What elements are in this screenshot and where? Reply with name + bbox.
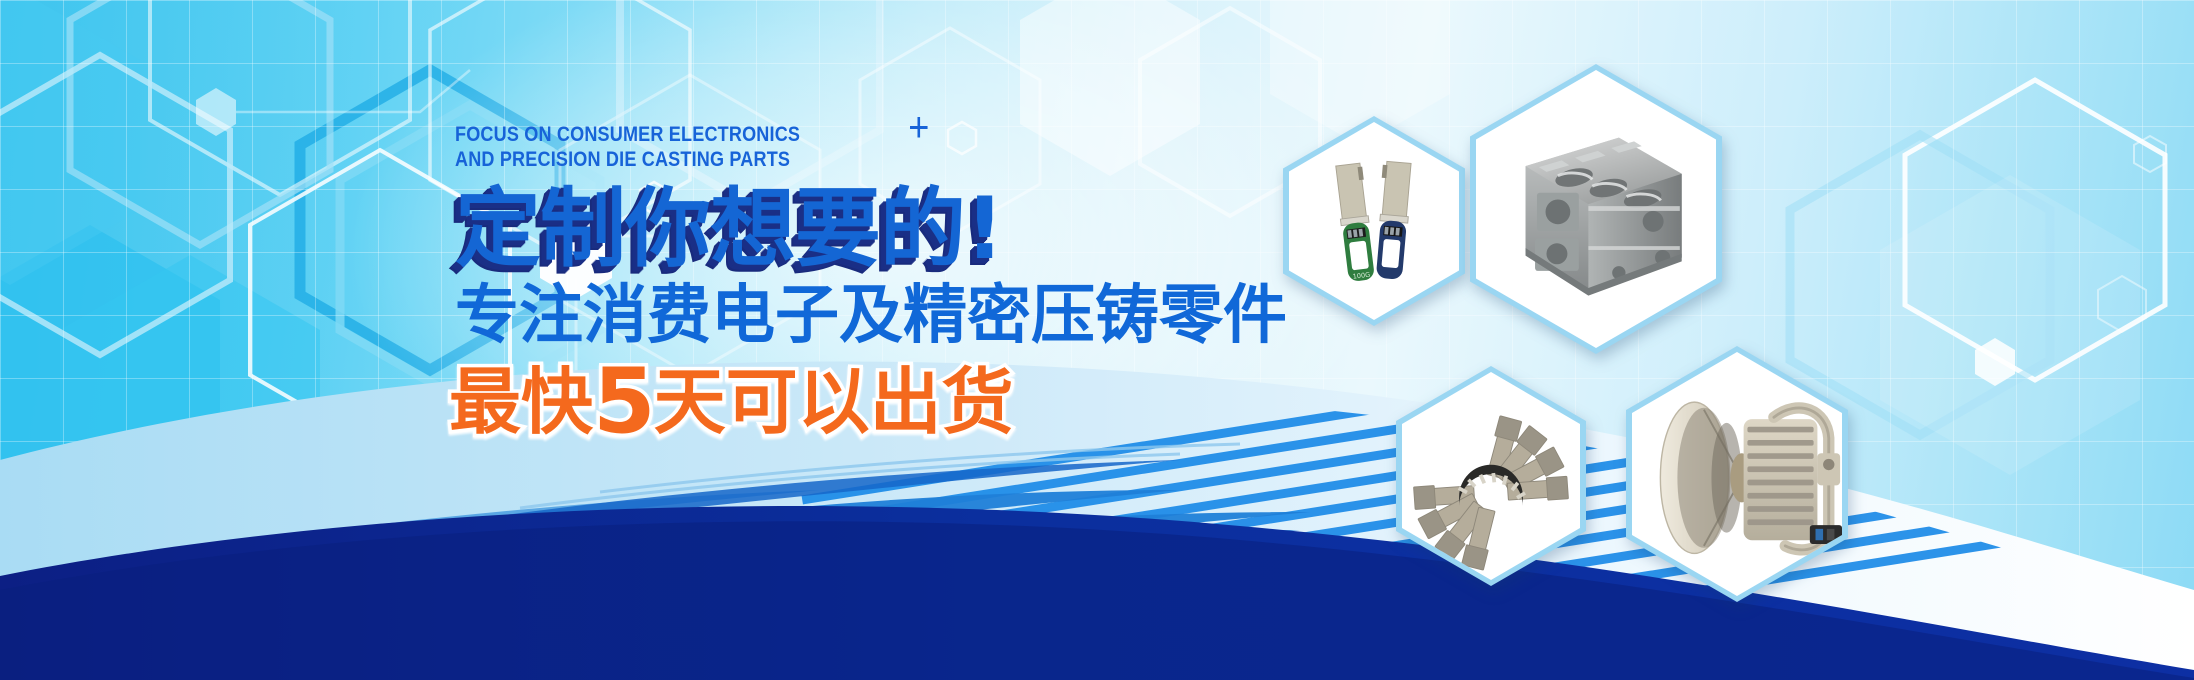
precision-metal-connector-parts-image — [1402, 372, 1580, 580]
promo-suffix: 天可以出货 — [654, 360, 1014, 444]
product-hexagon-die-cast-engine-block — [1470, 64, 1722, 354]
promo-prefix: 最快 — [449, 360, 593, 444]
die-cast-engine-block-image — [1476, 70, 1716, 348]
subheadline: 专注消费电子及精密压铸零件 — [455, 280, 1287, 352]
eyebrow-line-2: AND PRECISION DIE CASTING PARTS — [455, 147, 1171, 172]
microwave-antenna-radio-unit-image — [1632, 352, 1842, 596]
banner-copy: FOCUS ON CONSUMER ELECTRONICS AND PRECIS… — [455, 122, 1287, 442]
promo-number: 5 — [593, 349, 654, 454]
product-hexagon-microwave-antenna-radio-unit — [1626, 346, 1848, 602]
optical-transceiver-modules-image: 100G — [1289, 122, 1459, 320]
product-hexagon-precision-metal-connector-parts — [1396, 366, 1586, 586]
promo-banner: FOCUS ON CONSUMER ELECTRONICS AND PRECIS… — [0, 0, 2194, 680]
eyebrow-text: FOCUS ON CONSUMER ELECTRONICS AND PRECIS… — [455, 122, 1171, 172]
product-hexagon-optical-transceiver-modules: 100G — [1283, 116, 1465, 326]
headline: 定制你想要的! — [455, 182, 1287, 276]
promo-text: 最快5天可以出货 — [449, 362, 1287, 442]
eyebrow-line-1: FOCUS ON CONSUMER ELECTRONICS — [455, 122, 1171, 147]
plus-icon: + — [908, 106, 929, 148]
